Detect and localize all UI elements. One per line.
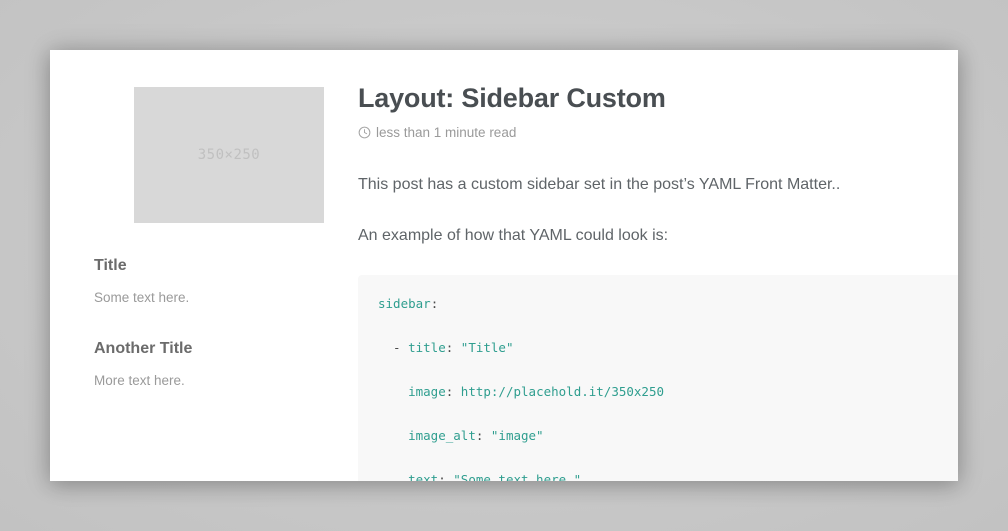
article-body: This post has a custom sidebar set in th… [358, 154, 958, 481]
read-time-label: less than 1 minute read [376, 125, 516, 140]
page-title: Layout: Sidebar Custom [358, 83, 958, 114]
clock-icon [358, 126, 371, 139]
article: Layout: Sidebar Custom less than 1 minut… [358, 50, 958, 481]
code-lines: sidebar: - title: "Title" image: http://… [378, 293, 946, 481]
article-header: Layout: Sidebar Custom less than 1 minut… [358, 50, 958, 140]
sidebar-figure: 350×250 [134, 87, 324, 223]
page-card: 350×250 Title Some text here. Another Ti… [50, 50, 958, 481]
code-line: image_alt: "image" [378, 425, 946, 447]
body-paragraph: An example of how that YAML could look i… [358, 224, 958, 249]
card-inner: 350×250 Title Some text here. Another Ti… [50, 50, 958, 481]
sidebar-block-title: Another Title [94, 339, 294, 358]
sidebar-block: Title Some text here. [94, 256, 294, 308]
article-meta: less than 1 minute read [358, 125, 958, 140]
sidebar-block-title: Title [94, 256, 294, 275]
body-paragraph: This post has a custom sidebar set in th… [358, 173, 958, 198]
code-line: image: http://placehold.it/350x250 [378, 381, 946, 403]
sidebar-block: Another Title More text here. [94, 339, 294, 391]
code-line: text: "Some text here." [378, 469, 946, 481]
custom-sidebar: 350×250 Title Some text here. Another Ti… [94, 50, 294, 391]
code-line: - title: "Title" [378, 337, 946, 359]
code-line: sidebar: [378, 293, 946, 315]
code-block: sidebar: - title: "Title" image: http://… [358, 275, 958, 481]
sidebar-image-dimensions-label: 350×250 [198, 147, 261, 163]
code-content: sidebar: - title: "Title" image: http://… [358, 293, 958, 481]
sidebar-block-text: More text here. [94, 358, 294, 391]
sidebar-image-placeholder: 350×250 [134, 87, 324, 223]
sidebar-block-text: Some text here. [94, 275, 294, 308]
